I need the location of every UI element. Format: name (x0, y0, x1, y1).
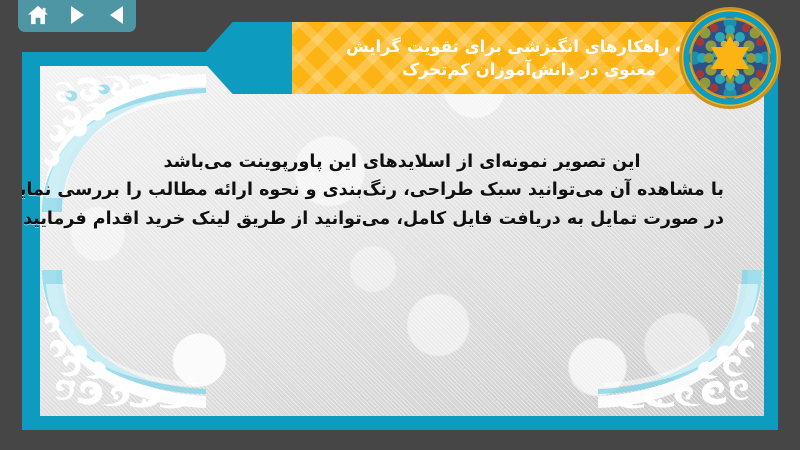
floral-corner-ornament-bottom-left (40, 268, 208, 416)
banner-title-body: ارائه راهکارهای انگیزشی برای تقویت گرایش… (292, 22, 730, 94)
slide-content-background: این تصویر نمونه‌ای از اسلایدهای این پاور… (40, 66, 764, 416)
previous-slide-button[interactable] (103, 3, 129, 27)
triangle-right-icon (71, 6, 84, 24)
next-slide-button[interactable] (64, 3, 90, 27)
islamic-medallion-icon (678, 6, 782, 110)
slide-navigation-bar (18, 0, 136, 32)
slide-content-panel: این تصویر نمونه‌ای از اسلایدهای این پاور… (22, 52, 778, 430)
slide-body-text: این تصویر نمونه‌ای از اسلایدهای این پاور… (80, 148, 724, 233)
body-line-1: این تصویر نمونه‌ای از اسلایدهای این پاور… (80, 148, 724, 176)
body-line-2: با مشاهده آن می‌توانید سبک طراحی، رنگ‌بن… (80, 176, 724, 204)
page-title-line-1: ارائه راهکارهای انگیزشی برای تقویت گرایش (346, 35, 712, 58)
banner-arrow-shape (200, 22, 296, 94)
floral-corner-ornament-bottom-right (596, 268, 764, 416)
page-title-line-2: معنوی در دانش‌آموزان کم‌تحرک (402, 58, 656, 81)
presentation-slide: این تصویر نمونه‌ای از اسلایدهای این پاور… (0, 0, 800, 450)
home-button[interactable] (25, 3, 51, 27)
home-icon (27, 5, 49, 25)
slide-title-banner: ارائه راهکارهای انگیزشی برای تقویت گرایش… (200, 22, 730, 94)
body-line-3: در صورت تمایل به دریافت فایل کامل، می‌تو… (80, 205, 724, 233)
triangle-left-icon (110, 6, 123, 24)
